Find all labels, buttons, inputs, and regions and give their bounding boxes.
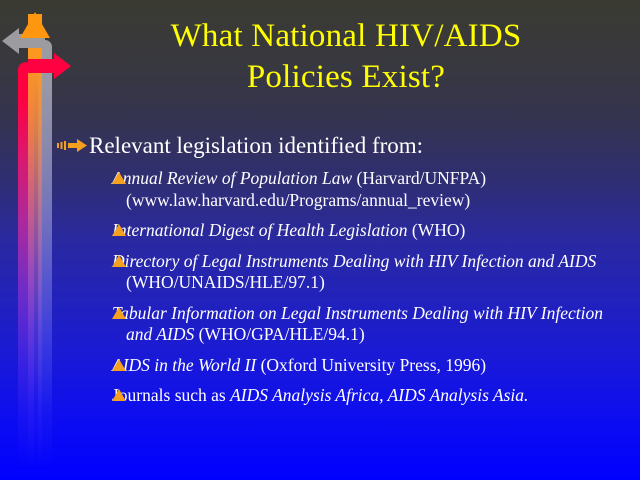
reference-source: (WHO) <box>408 220 466 240</box>
reference-title: Directory of Legal Instruments Dealing w… <box>112 251 596 271</box>
red-arrow-shaft <box>18 62 34 480</box>
orange-triangle-bullet-icon <box>112 224 126 236</box>
orange-up-arrow-icon <box>20 12 50 38</box>
bullet-level2-item: Tabular Information on Legal Instruments… <box>56 303 632 346</box>
slide-title-line-1: What National HIV/AIDS <box>96 16 596 57</box>
reference-source: (WHO/UNAIDS/HLE/97.1) <box>126 272 325 292</box>
slide-body: Relevant legislation identified from: An… <box>56 131 632 416</box>
reference-source: (Oxford University Press, 1996) <box>256 355 486 375</box>
bullet-level2-list: Annual Review of Population Law (Harvard… <box>56 168 632 407</box>
orange-triangle-bullet-icon <box>112 255 126 267</box>
reference-source: (WHO/GPA/HLE/94.1) <box>194 324 364 344</box>
orange-triangle-bullet-icon <box>112 359 126 371</box>
gray-arrow-shaft <box>38 40 52 480</box>
presentation-slide: What National HIV/AIDS Policies Exist? R… <box>0 0 640 480</box>
gray-left-arrow-icon <box>2 28 19 54</box>
slide-title: What National HIV/AIDS Policies Exist? <box>96 16 596 98</box>
orange-arrow-shaft <box>28 14 42 480</box>
orange-triangle-bullet-icon <box>112 307 126 319</box>
reference-title: AIDS in the World II <box>112 355 256 375</box>
bullet-level2-item: Annual Review of Population Law (Harvard… <box>56 168 632 211</box>
bullet-level2-item: AIDS in the World II (Oxford University … <box>56 355 632 377</box>
bullet-level2-item: Directory of Legal Instruments Dealing w… <box>56 251 632 294</box>
red-right-arrow-tail <box>28 59 56 73</box>
slide-title-line-2: Policies Exist? <box>96 57 596 98</box>
reference-title: Annual Review of Population Law <box>112 168 352 188</box>
red-right-arrow-icon <box>54 53 71 79</box>
orange-triangle-bullet-icon <box>112 172 126 184</box>
reference-journal-names: AIDS Analysis Africa, AIDS Analysis Asia… <box>230 385 528 405</box>
gray-left-arrow-tail <box>17 34 45 48</box>
bullet-level1: Relevant legislation identified from: <box>56 131 632 161</box>
reference-title: International Digest of Health Legislati… <box>112 220 408 240</box>
bullet-level1-label: Relevant legislation identified from: <box>89 133 423 158</box>
bullet-level2-item: International Digest of Health Legislati… <box>56 220 632 242</box>
bullet-level2-item: Journals such as AIDS Analysis Africa, A… <box>56 385 632 407</box>
orange-arrow-bullet-icon <box>57 138 87 153</box>
orange-triangle-bullet-icon <box>112 389 126 401</box>
reference-lead-in: Journals such as <box>112 385 230 405</box>
